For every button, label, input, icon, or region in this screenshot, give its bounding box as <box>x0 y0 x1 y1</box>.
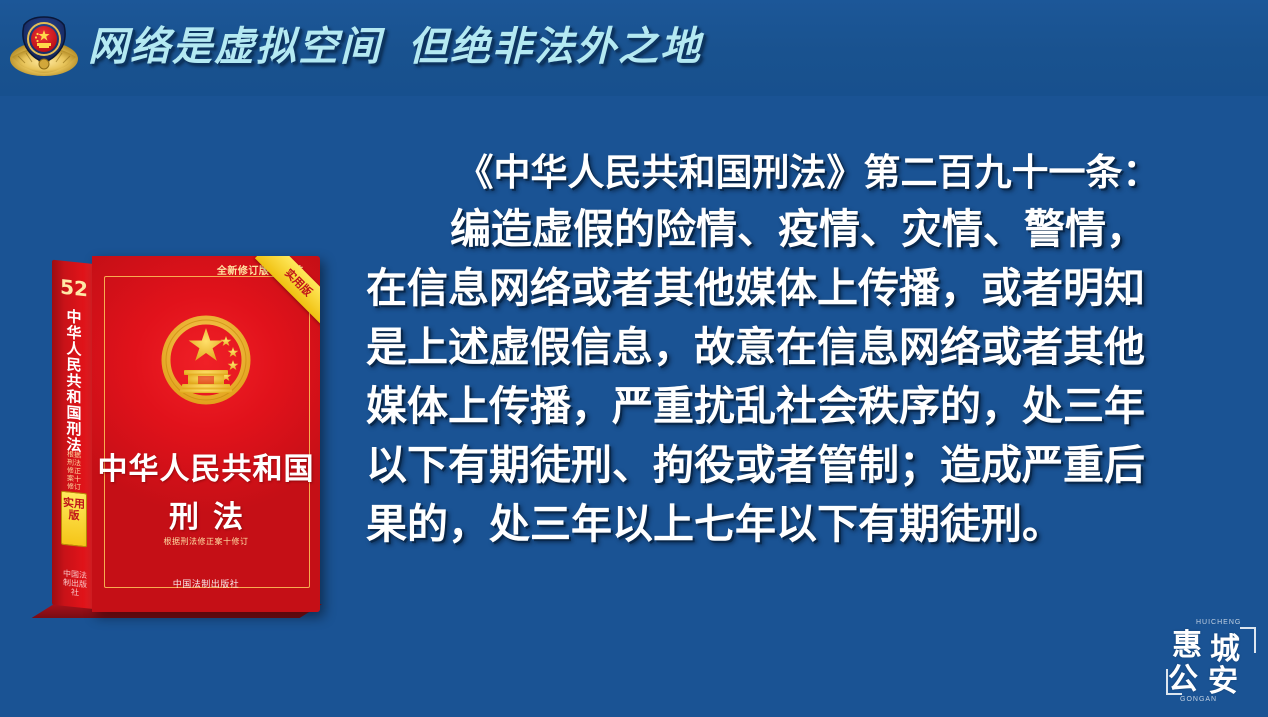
cover-corner-ribbon: 实用版 <box>255 256 320 326</box>
law-line-5: 以下有期徒刑、拘役或者管制；造成严重后 <box>366 436 1250 495</box>
watermark-char-4: 安 <box>1208 667 1238 697</box>
law-article-text-block: 《中华人民共和国刑法》第二百九十一条： 编造虚假的险情、疫情、灾情、警情， 在信… <box>366 146 1250 554</box>
law-line-2: 在信息网络或者其他媒体上传播，或者明知 <box>366 259 1250 318</box>
header-slogan-part1: 网络是虚拟空间 <box>88 24 382 70</box>
watermark-pinyin-bottom: GONGAN <box>1180 696 1217 703</box>
slide-canvas: 网络是虚拟空间但绝非法外之地 52 中华人民共和国刑法 根据刑法修正案十修订 实… <box>0 0 1268 717</box>
law-line-4: 媒体上传播，严重扰乱社会秩序的，处三年 <box>366 377 1250 436</box>
book-front-cover: 全新修订版 · 刑 法 实用版 <box>92 256 320 612</box>
header-banner: 网络是虚拟空间但绝非法外之地 <box>0 0 1268 96</box>
watermark-logo: HUICHENG 惠 城 公 安 GONGAN <box>1166 615 1258 707</box>
national-emblem-icon <box>154 308 258 412</box>
book-spine-subtitle: 根据刑法修正案十修订 <box>64 451 84 493</box>
book-spine-number: 52 <box>58 274 90 301</box>
law-article-title: 《中华人民共和国刑法》第二百九十一条： <box>366 146 1250 200</box>
police-badge-icon <box>8 12 80 84</box>
cover-title-line2: 刑法 <box>92 492 320 536</box>
cover-publisher: 中国法制出版社 <box>92 577 320 590</box>
book-spine-publisher: 中国法制出版社 <box>63 569 87 599</box>
criminal-law-book-image: 52 中华人民共和国刑法 根据刑法修正案十修订 实用版 中国法制出版社 全新修订… <box>44 252 334 620</box>
watermark-pinyin-top: HUICHENG <box>1196 619 1241 626</box>
watermark-char-3: 公 <box>1168 665 1198 695</box>
watermark-char-1: 惠 <box>1172 631 1202 661</box>
law-line-6: 果的，处三年以上七年以下有期徒刑。 <box>366 495 1250 554</box>
header-slogan-part2: 但绝非法外之地 <box>408 24 702 70</box>
book-spine-badge: 实用版 <box>61 491 87 548</box>
watermark-bracket-top-right <box>1240 627 1256 653</box>
cover-subtitle: 根据刑法修正案十修订 <box>92 536 320 547</box>
watermark-char-2: 城 <box>1210 635 1240 665</box>
cover-title-line1: 中华人民共和国 <box>92 444 320 488</box>
law-line-3: 是上述虚假信息，故意在信息网络或者其他 <box>366 318 1250 377</box>
book-spine: 52 中华人民共和国刑法 根据刑法修正案十修订 实用版 中国法制出版社 <box>52 260 96 610</box>
header-slogan: 网络是虚拟空间但绝非法外之地 <box>88 14 702 72</box>
book-spine-title: 中华人民共和国刑法 <box>60 309 88 456</box>
law-line-1: 编造虚假的险情、疫情、灾情、警情， <box>366 200 1250 259</box>
